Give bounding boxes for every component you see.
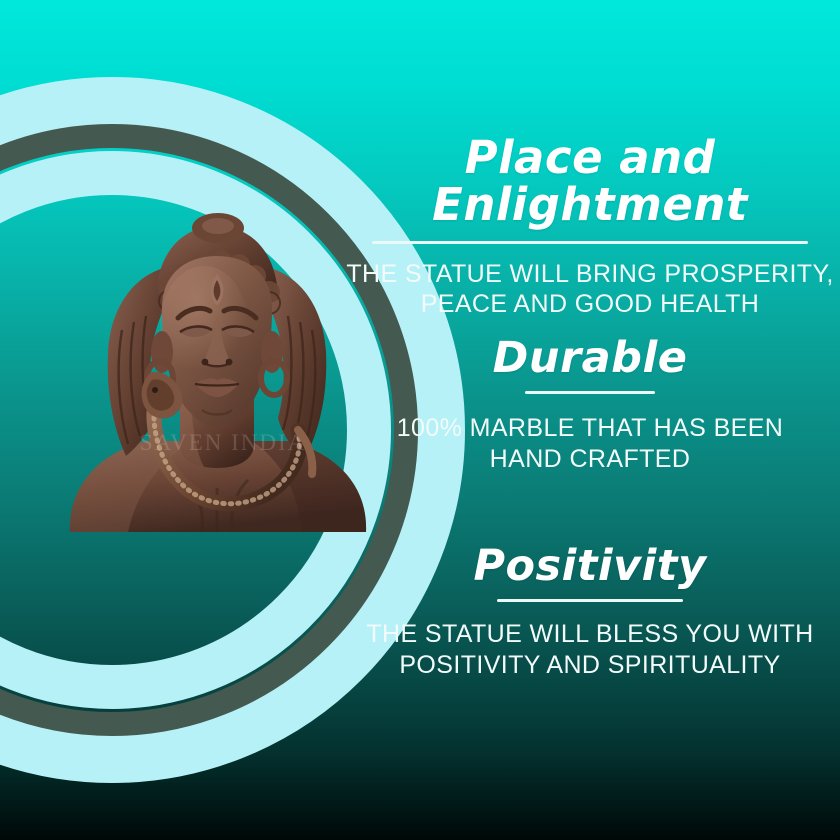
feature-item: Positivity THE STATUE WILL BLESS YOU WIT… bbox=[340, 544, 840, 680]
feature-item: Durable 100% MARBLE THAT HAS BEEN HAND C… bbox=[340, 336, 840, 474]
feature-item: Place and Enlightment THE STATUE WILL BR… bbox=[340, 134, 840, 320]
feature-list: Place and Enlightment THE STATUE WILL BR… bbox=[340, 0, 840, 840]
feature-description: THE STATUE WILL BLESS YOU WITH POSITIVIT… bbox=[340, 619, 840, 680]
feature-divider bbox=[497, 599, 683, 602]
feature-divider bbox=[372, 241, 808, 244]
feature-title: Place and Enlightment bbox=[340, 134, 840, 229]
feature-title: Durable bbox=[340, 336, 840, 381]
shiva-statue-illustration bbox=[52, 212, 382, 542]
promo-graphic-canvas: SAVEN INDIA Place and Enlightment THE ST… bbox=[0, 0, 840, 840]
feature-description: 100% MARBLE THAT HAS BEEN HAND CRAFTED bbox=[340, 413, 840, 474]
shiva-statue bbox=[52, 212, 382, 542]
feature-description: THE STATUE WILL BRING PROSPERITY, PEACE … bbox=[340, 259, 840, 320]
feature-divider bbox=[525, 391, 655, 394]
feature-title: Positivity bbox=[340, 544, 840, 589]
